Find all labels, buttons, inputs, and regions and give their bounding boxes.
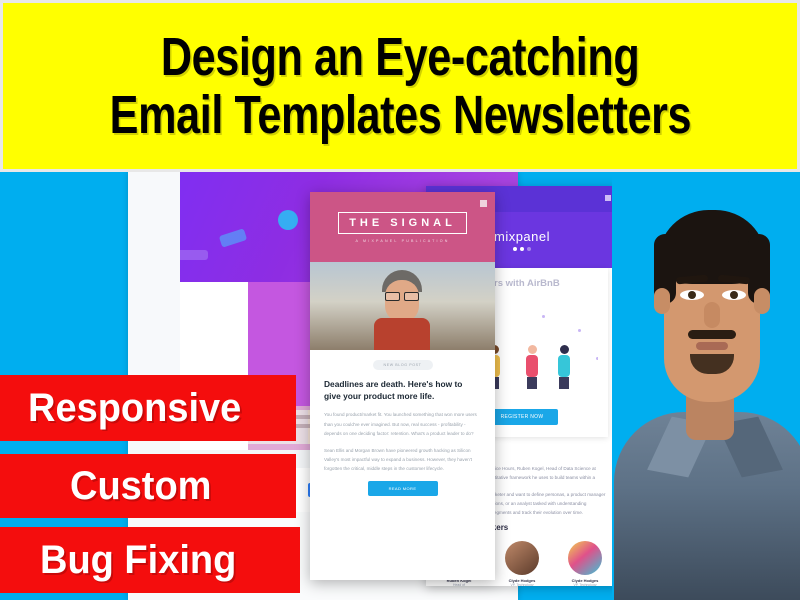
signal-body: NEW BLOG POST Deadlines are death. Here'… [310, 350, 495, 510]
header-banner: Design an Eye-catching Email Templates N… [0, 0, 800, 172]
window-menu-icon [605, 195, 611, 201]
glasses-icon [385, 292, 419, 299]
speaker-avatar [505, 541, 539, 575]
seller-portrait [612, 172, 800, 600]
feature-bar-label: Bug Fixing [40, 538, 236, 583]
feature-bar-label: Responsive [28, 386, 241, 431]
portrait-ear-right [754, 288, 770, 314]
speaker-role: VP, Technology [564, 583, 606, 586]
collage-stage: Check out enterprise page to learn more … [0, 172, 800, 600]
gig-thumbnail-poster: Design an Eye-catching Email Templates N… [0, 0, 800, 600]
illustration-person [526, 345, 538, 389]
feature-bar-bug-fixing[interactable]: Bug Fixing [0, 527, 300, 593]
signal-paragraph-2: Sean Ellis and Morgan Brown have pioneer… [324, 446, 481, 474]
signal-read-more-button[interactable]: READ MORE [368, 481, 438, 496]
signal-hero-photo [310, 262, 495, 350]
signal-badge: NEW BLOG POST [373, 360, 433, 370]
illustration-person [558, 345, 570, 389]
mixpanel-register-button[interactable]: REGISTER NOW [486, 409, 558, 425]
speaker-role: Head of [438, 583, 480, 586]
signal-menu-icon [480, 200, 487, 207]
speaker-avatar [568, 541, 602, 575]
feature-bar-responsive[interactable]: Responsive [0, 375, 296, 441]
the-signal-email-template: THE SIGNAL A MIXPANEL PUBLICATION NEW BL… [310, 192, 495, 580]
person-shirt [374, 318, 430, 350]
mixpanel-logo: mixpanel [494, 229, 550, 244]
signal-headline: Deadlines are death. Here's how to give … [324, 378, 481, 402]
person-face [385, 280, 419, 322]
portrait-pupil-left [688, 291, 696, 299]
portrait-ear-left [654, 288, 670, 314]
portrait-shoulders [614, 412, 800, 600]
signal-brand: THE SIGNAL [349, 217, 456, 229]
signal-header: THE SIGNAL A MIXPANEL PUBLICATION [310, 192, 495, 262]
portrait-lips [696, 342, 728, 350]
signal-tagline: A MIXPANEL PUBLICATION [355, 239, 449, 243]
feature-bar-custom[interactable]: Custom [0, 454, 296, 518]
feature-bar-label: Custom [70, 464, 211, 509]
decor-shape [278, 210, 298, 230]
signal-logo-box: THE SIGNAL [338, 212, 467, 234]
banner-headline-line2: Email Templates Newsletters [109, 86, 690, 144]
portrait-nose [704, 302, 720, 328]
mixpanel-logo-dots-icon [513, 247, 531, 251]
decor-shape [219, 228, 247, 247]
banner-headline-line1: Design an Eye-catching [161, 28, 640, 86]
hero-person [372, 270, 432, 350]
banner-divider [0, 169, 800, 172]
portrait-pupil-right [730, 291, 738, 299]
speaker-card: Clyde Hodges VP, Technology Bally Ride S… [501, 541, 543, 586]
signal-paragraph-1: You found product/market fit. You launch… [324, 410, 481, 438]
speaker-role: VP, Technology [501, 583, 543, 586]
portrait-moustache [688, 330, 736, 339]
speaker-card: Clyde Hodges VP, Technology Bally Ride S… [564, 541, 606, 586]
